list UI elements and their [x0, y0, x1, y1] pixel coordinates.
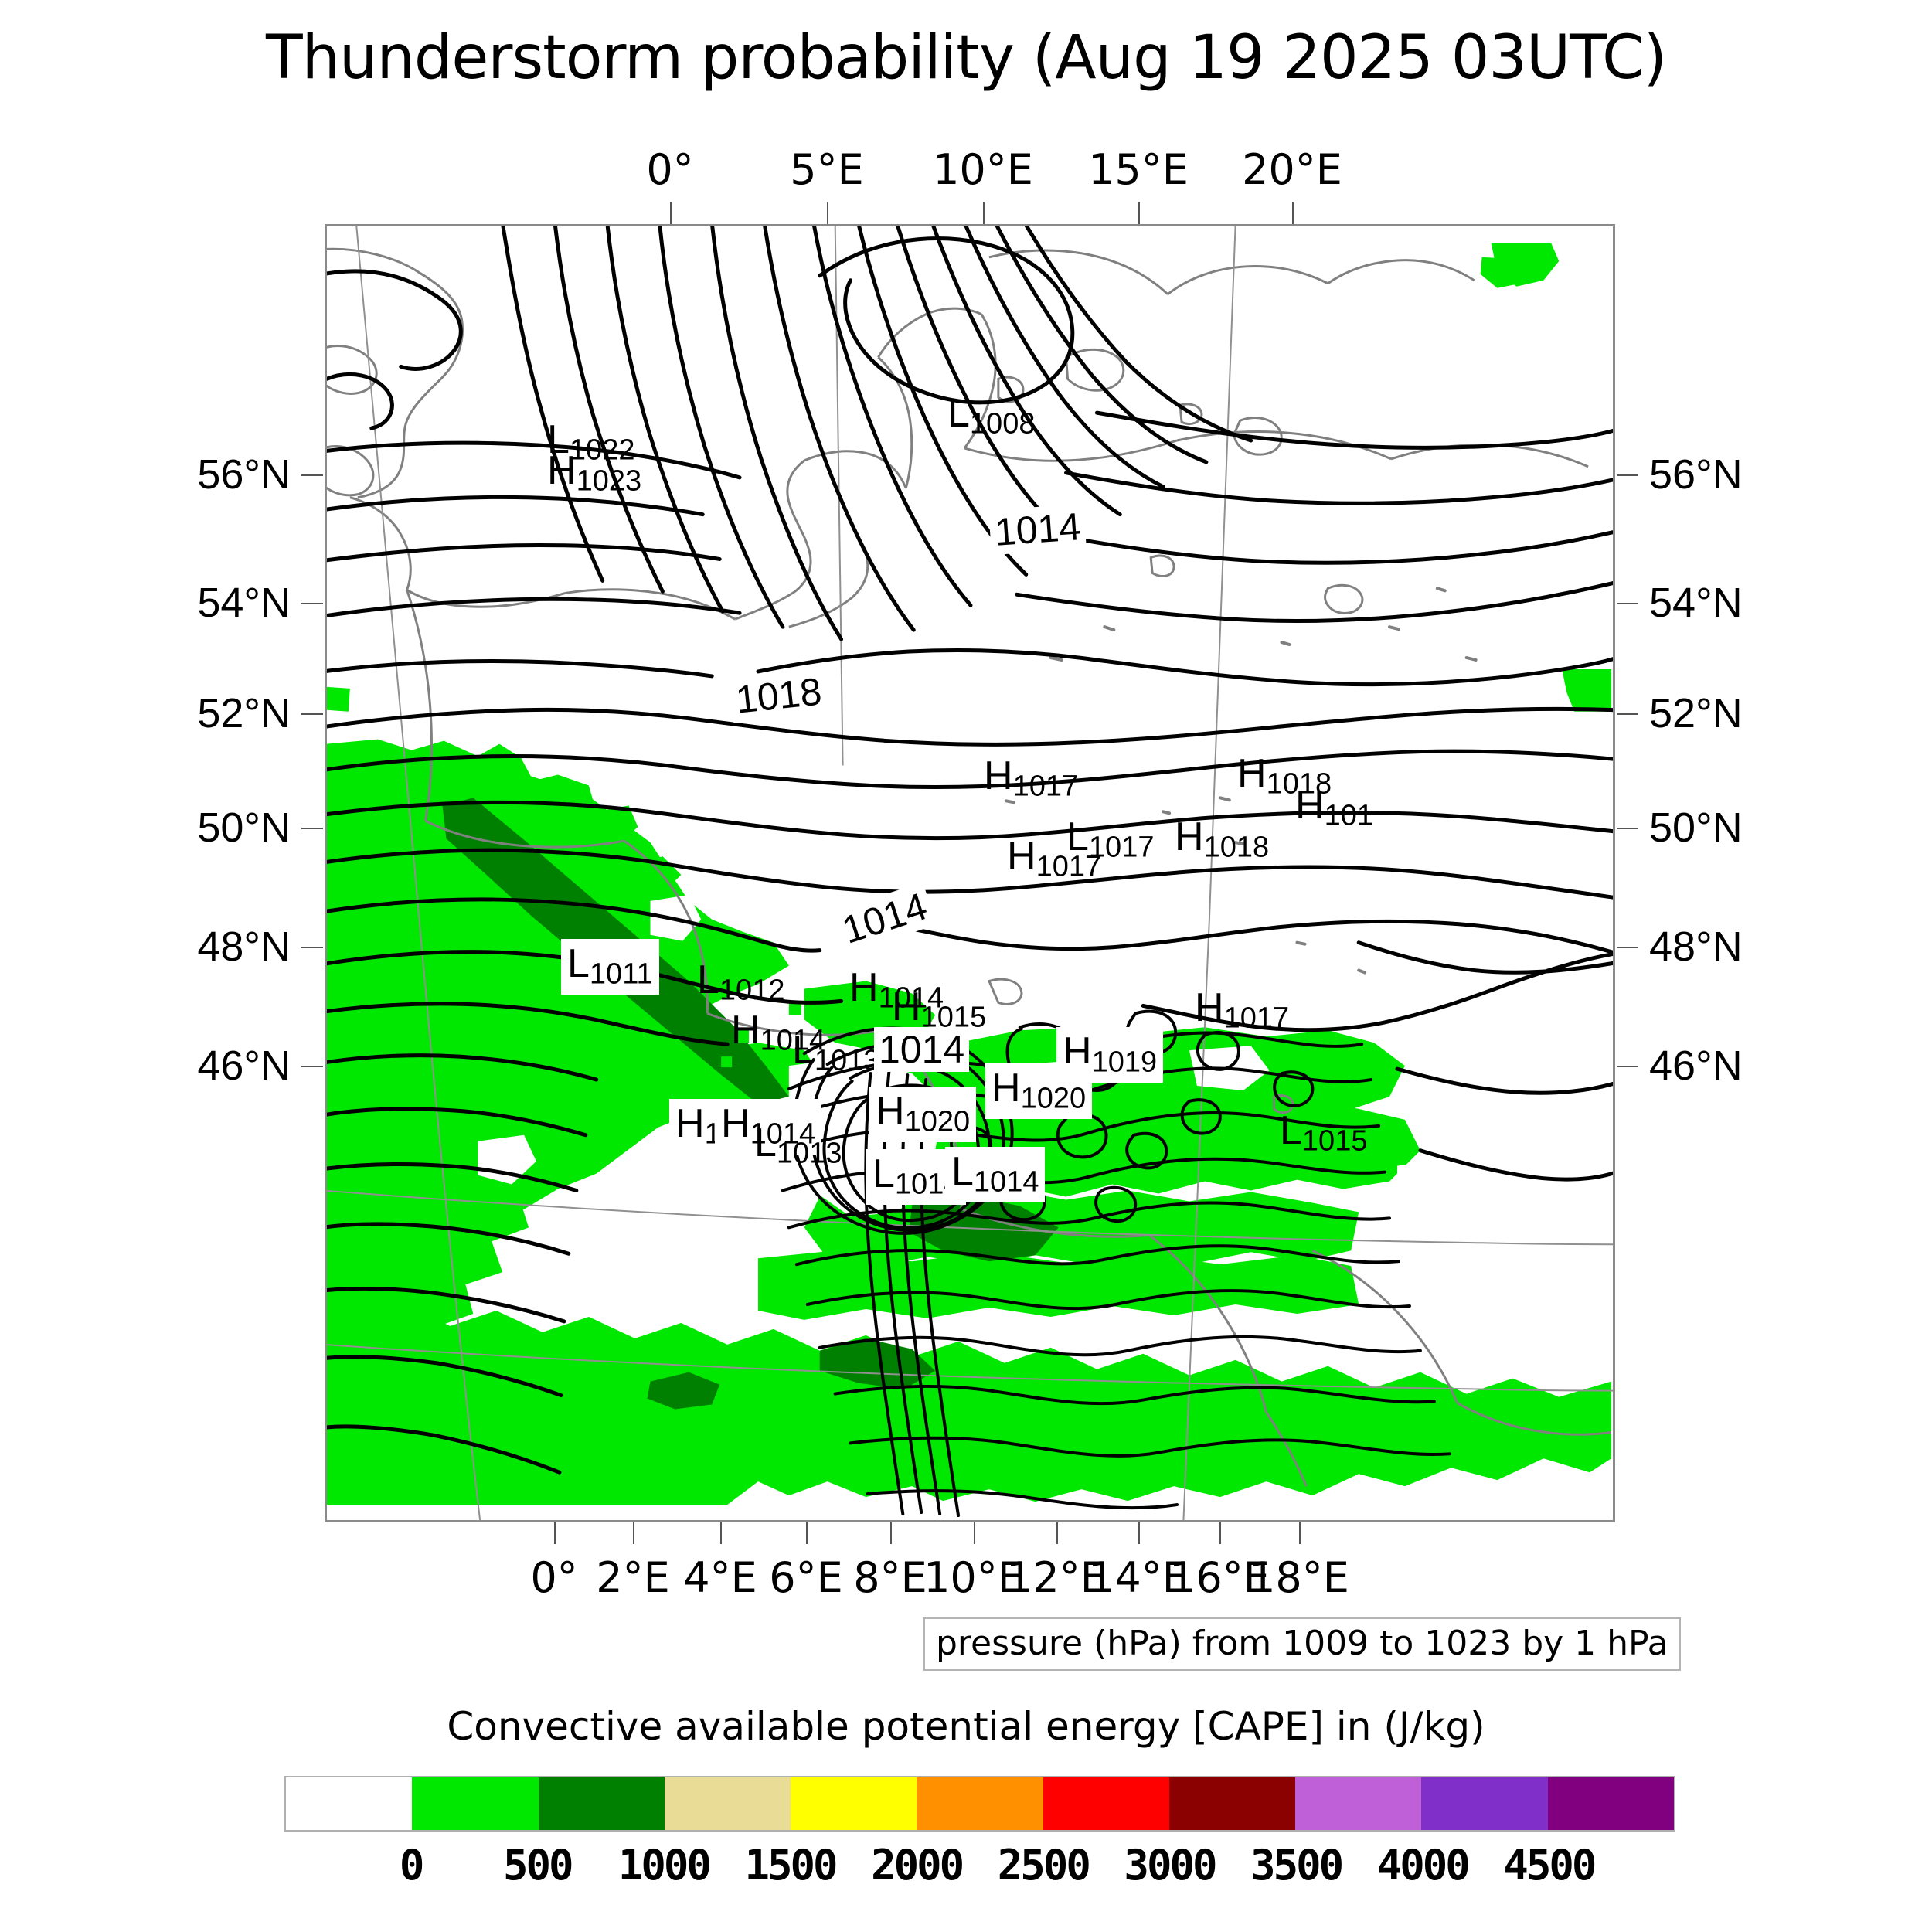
- colorbar-tick-label: 2500: [998, 1841, 1089, 1889]
- bottom-lon-tick: [806, 1522, 808, 1544]
- top-lon-tick-label: 15°E: [1088, 145, 1189, 194]
- left-lat-tick: [301, 713, 323, 715]
- left-lat-tick: [301, 947, 323, 948]
- top-lon-tick-label: 20°E: [1242, 145, 1342, 194]
- colorbar-tick-label: 3000: [1124, 1841, 1215, 1889]
- colorbar-swatch[interactable]: [665, 1777, 791, 1830]
- right-lat-tick-label: 46°N: [1649, 1042, 1743, 1090]
- left-lat-tick: [301, 474, 323, 476]
- bottom-lon-tick: [890, 1522, 892, 1544]
- right-lat-tick-label: 54°N: [1649, 579, 1743, 627]
- figure-root: Thunderstorm probability (Aug 19 2025 03…: [0, 0, 1932, 1932]
- colorbar-tick-label: 2000: [871, 1841, 962, 1889]
- left-lat-tick: [301, 828, 323, 829]
- page-title: Thunderstorm probability (Aug 19 2025 03…: [0, 23, 1932, 93]
- top-lon-tick: [1138, 202, 1140, 224]
- top-lon-tick: [827, 202, 828, 224]
- bottom-lon-tick: [633, 1522, 634, 1544]
- left-lat-tick-label: 52°N: [197, 689, 291, 737]
- right-lat-tick: [1617, 1066, 1638, 1067]
- colorbar-tick-label: 1500: [745, 1841, 836, 1889]
- left-lat-tick-label: 50°N: [197, 804, 291, 852]
- right-lat-tick: [1617, 828, 1638, 829]
- right-lat-tick-label: 50°N: [1649, 804, 1743, 852]
- right-lat-tick: [1617, 603, 1638, 604]
- colorbar-swatch[interactable]: [1548, 1777, 1674, 1830]
- bottom-lon-tick: [1138, 1522, 1140, 1544]
- colorbar[interactable]: [284, 1776, 1675, 1832]
- colorbar-swatch[interactable]: [539, 1777, 665, 1830]
- top-lon-tick-label: 0°: [646, 145, 693, 194]
- colorbar-swatch[interactable]: [791, 1777, 917, 1830]
- map-canvas: [327, 226, 1613, 1520]
- bottom-lon-tick: [554, 1522, 556, 1544]
- map-panel[interactable]: L1022H1023L1008H1017H1018H101L1017H1018H…: [325, 224, 1615, 1522]
- top-lon-tick: [983, 202, 985, 224]
- bottom-lon-tick: [1219, 1522, 1221, 1544]
- left-lat-tick-label: 48°N: [197, 923, 291, 971]
- colorbar-swatch[interactable]: [1169, 1777, 1295, 1830]
- colorbar-swatch[interactable]: [917, 1777, 1043, 1830]
- bottom-lon-tick: [720, 1522, 722, 1544]
- bottom-lon-tick: [1299, 1522, 1301, 1544]
- right-lat-tick-label: 52°N: [1649, 689, 1743, 737]
- bottom-lon-tick: [1056, 1522, 1058, 1544]
- cape-shading: [327, 243, 1611, 1505]
- colorbar-swatch[interactable]: [412, 1777, 538, 1830]
- top-lon-tick: [670, 202, 672, 224]
- bottom-lon-tick-label: 0°: [530, 1553, 577, 1602]
- top-lon-tick-label: 5°E: [790, 145, 863, 194]
- colorbar-tick-label: 3500: [1250, 1841, 1342, 1889]
- bottom-lon-tick: [974, 1522, 975, 1544]
- bottom-lon-tick-label: 2°E: [596, 1553, 669, 1602]
- colorbar-swatch[interactable]: [286, 1777, 412, 1830]
- left-lat-tick: [301, 1066, 323, 1067]
- right-lat-tick: [1617, 947, 1638, 948]
- right-lat-tick: [1617, 474, 1638, 476]
- colorbar-swatch[interactable]: [1043, 1777, 1169, 1830]
- bottom-lon-tick-label: 8°E: [853, 1553, 927, 1602]
- bottom-lon-tick-label: 18°E: [1249, 1553, 1349, 1602]
- bottom-lon-tick-label: 6°E: [769, 1553, 842, 1602]
- bottom-lon-tick-label: 4°E: [683, 1553, 757, 1602]
- colorbar-caption: Convective available potential energy [C…: [0, 1704, 1932, 1749]
- pressure-legend: pressure (hPa) from 1009 to 1023 by 1 hP…: [923, 1617, 1681, 1671]
- colorbar-tick-label: 500: [503, 1841, 572, 1889]
- left-lat-tick-label: 46°N: [197, 1042, 291, 1090]
- left-lat-tick-label: 56°N: [197, 451, 291, 498]
- top-lon-tick-label: 10°E: [933, 145, 1033, 194]
- top-lon-tick: [1292, 202, 1294, 224]
- left-lat-tick: [301, 603, 323, 604]
- right-lat-tick: [1617, 713, 1638, 715]
- right-lat-tick-label: 48°N: [1649, 923, 1743, 971]
- left-lat-tick-label: 54°N: [197, 579, 291, 627]
- right-lat-tick-label: 56°N: [1649, 451, 1743, 498]
- colorbar-tick-labels: 050010001500200025003000350040004500: [284, 1841, 1675, 1895]
- colorbar-tick-label: 1000: [618, 1841, 709, 1889]
- colorbar-tick-label: 0: [400, 1841, 423, 1889]
- colorbar-swatch[interactable]: [1295, 1777, 1421, 1830]
- colorbar-tick-label: 4000: [1377, 1841, 1468, 1889]
- colorbar-swatch[interactable]: [1421, 1777, 1547, 1830]
- colorbar-tick-label: 4500: [1503, 1841, 1594, 1889]
